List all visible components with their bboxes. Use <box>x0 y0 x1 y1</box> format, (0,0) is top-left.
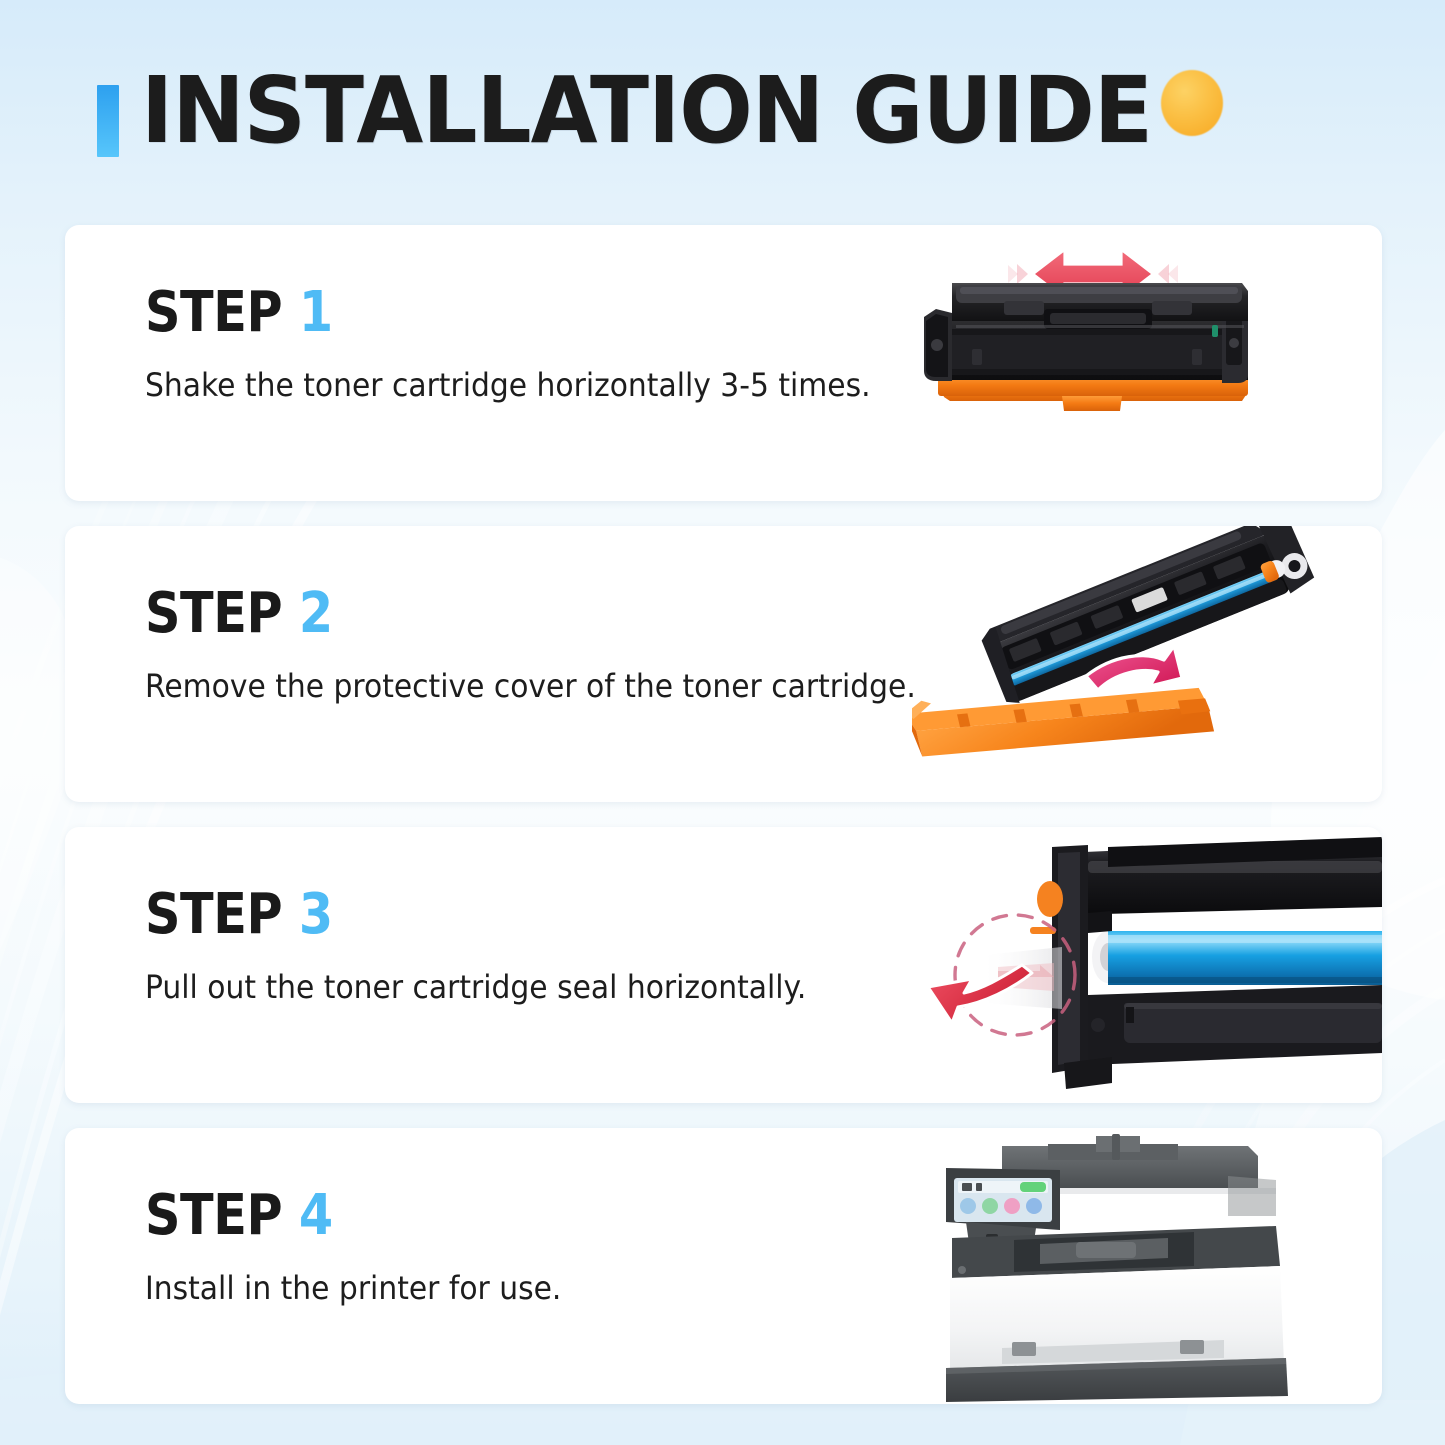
step-4-text: STEP 4 Install in the printer for use. <box>145 1188 945 1308</box>
motion-echo-right <box>1158 264 1169 284</box>
orange-dot-icon <box>1161 70 1223 136</box>
step-card-1: STEP 1 Shake the toner cartridge horizon… <box>65 225 1382 501</box>
step-2-label: STEP <box>145 581 282 646</box>
toner-cartridge-closeup <box>1030 837 1382 1089</box>
title-wrap: INSTALLATION GUIDE <box>141 66 1217 156</box>
page-header: INSTALLATION GUIDE <box>0 0 1445 200</box>
step-3-description: Pull out the toner cartridge seal horizo… <box>145 967 889 1007</box>
accent-bar <box>97 85 119 157</box>
step-1-description: Shake the toner cartridge horizontally 3… <box>145 365 889 405</box>
step-2-heading: STEP 2 <box>145 586 849 642</box>
step-4-label: STEP <box>145 1183 282 1248</box>
step-2-description: Remove the protective cover of the toner… <box>145 666 889 706</box>
title-row: INSTALLATION GUIDE <box>97 66 1217 157</box>
step-card-2: STEP 2 Remove the protective cover of th… <box>65 526 1382 802</box>
step-3-illustration <box>912 827 1382 1103</box>
step-2-illustration <box>912 526 1382 802</box>
laser-printer <box>946 1134 1288 1402</box>
toner-cartridge-tilted <box>979 526 1317 707</box>
step-2-number: 2 <box>299 581 333 646</box>
step-1-number: 1 <box>299 280 333 345</box>
step-3-number: 3 <box>299 882 333 947</box>
motion-echo-left <box>1017 264 1028 284</box>
step-4-number: 4 <box>299 1183 333 1248</box>
step-4-description: Install in the printer for use. <box>145 1268 889 1308</box>
step-card-3: STEP 3 Pull out the toner cartridge seal… <box>65 827 1382 1103</box>
page-title: INSTALLATION GUIDE <box>141 66 1152 156</box>
toner-cartridge <box>924 283 1248 411</box>
step-1-text: STEP 1 Shake the toner cartridge horizon… <box>145 285 945 405</box>
step-1-label: STEP <box>145 280 282 345</box>
step-1-heading: STEP 1 <box>145 285 849 341</box>
step-3-label: STEP <box>145 882 282 947</box>
step-3-text: STEP 3 Pull out the toner cartridge seal… <box>145 887 945 1007</box>
step-4-heading: STEP 4 <box>145 1188 849 1244</box>
step-2-text: STEP 2 Remove the protective cover of th… <box>145 586 945 706</box>
step-3-heading: STEP 3 <box>145 887 849 943</box>
steps-list: STEP 1 Shake the toner cartridge horizon… <box>65 225 1382 1404</box>
step-card-4: STEP 4 Install in the printer for use. <box>65 1128 1382 1404</box>
step-4-illustration <box>912 1128 1382 1404</box>
step-1-illustration <box>912 225 1382 501</box>
